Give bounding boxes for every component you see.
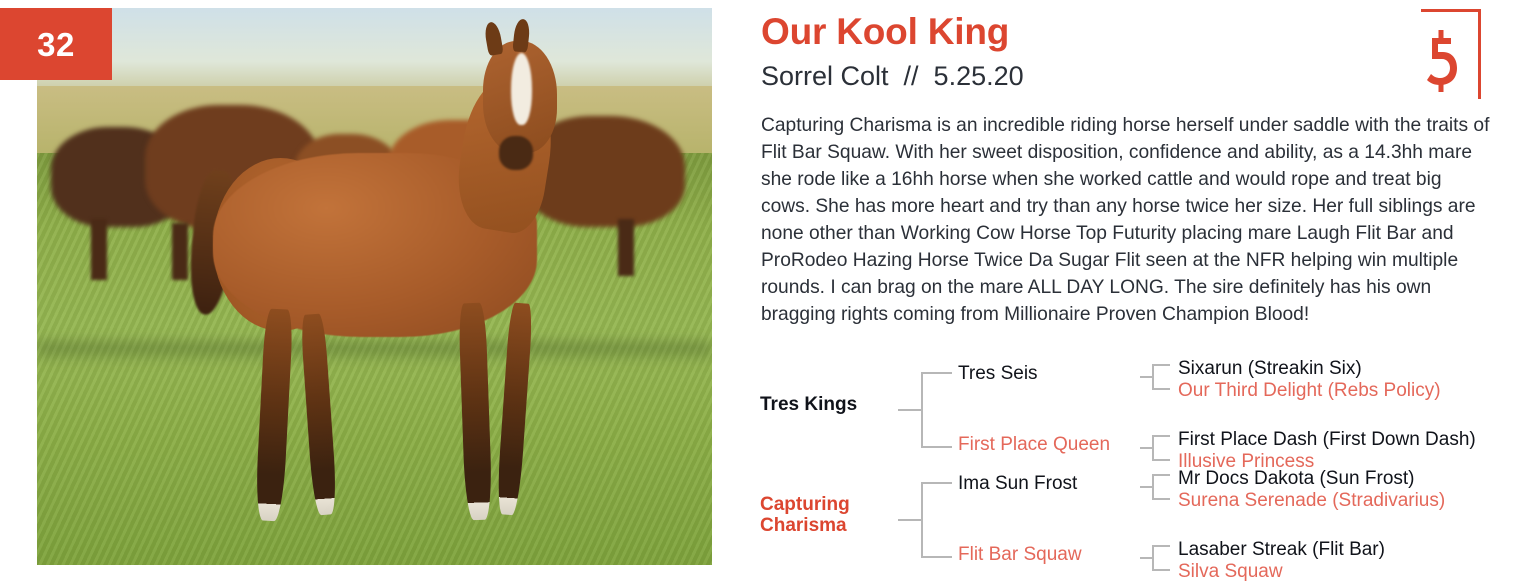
foal-leg (458, 303, 493, 521)
description-paragraph: Capturing Charisma is an incredible ridi… (761, 112, 1491, 328)
pedigree-sire-root: Tres Kings (760, 394, 890, 415)
bracket-arm-bottom (1152, 388, 1170, 390)
bracket-stem (898, 409, 922, 411)
pedigree-sire-sire: Tres Seis (958, 363, 1038, 385)
pedigree-dam-root: Capturing Charisma (760, 494, 890, 536)
pedigree-dam-sire: Ima Sun Frost (958, 473, 1077, 495)
foal-leg (495, 303, 533, 516)
bracket-arm-top (1152, 545, 1170, 547)
listing-details: Our Kool King Sorrel Colt // 5.25.20 Cap… (758, 0, 1523, 584)
horse-photo (37, 8, 712, 565)
foal-leg (300, 314, 338, 516)
bracket-vertical (921, 482, 923, 558)
grandsire-name: Mr Docs Dakota (Sun Frost) (1178, 468, 1445, 490)
pedigree-chart: Tres Kings Tres Seis First Place Queen (758, 358, 1523, 584)
bracket-arm-top (1152, 474, 1170, 476)
granddam-name: Silva Squaw (1178, 561, 1385, 583)
bracket-arm-bottom (1152, 498, 1170, 500)
pedigree-bracket-dam-bottom (1140, 545, 1172, 571)
foal-leg (254, 308, 293, 521)
bracket-vertical (921, 372, 923, 448)
brand-five-dollar-logo-icon (1421, 30, 1461, 92)
bracket-vertical (1152, 435, 1154, 461)
bracket-stem (898, 519, 922, 521)
pedigree-grandparents-sire-top: Sixarun (Streakin Six) Our Third Delight… (1178, 358, 1441, 402)
foal-ear (512, 18, 530, 53)
pedigree-dam-group: Capturing Charisma Ima Sun Frost Flit Ba… (758, 468, 1523, 573)
grandsire-name: Lasaber Streak (Flit Bar) (1178, 539, 1385, 561)
lot-number: 32 (37, 28, 75, 61)
bracket-arm-bottom (921, 556, 952, 558)
pedigree-dam-dam: Flit Bar Squaw (958, 544, 1082, 566)
grandsire-name: First Place Dash (First Down Dash) (1178, 429, 1476, 451)
grandsire-name: Sixarun (Streakin Six) (1178, 358, 1441, 380)
bracket-arm-top (921, 372, 952, 374)
pedigree-bracket-dam-top (1140, 474, 1172, 500)
page-title: Our Kool King (761, 12, 1009, 53)
pedigree-sire-group: Tres Kings Tres Seis First Place Queen (758, 358, 1523, 463)
bracket-arm-top (1152, 364, 1170, 366)
bracket-arm-top (1152, 435, 1170, 437)
pedigree-bracket-sire-bottom (1140, 435, 1172, 461)
subtitle-color-sex-date: Sorrel Colt // 5.25.20 (761, 62, 1024, 92)
foal-muzzle (499, 136, 533, 169)
bracket-arm-top (921, 482, 952, 484)
bracket-arm-bottom (1152, 459, 1170, 461)
foal-ear (483, 21, 503, 56)
granddam-name: Surena Serenade (Stradivarius) (1178, 490, 1445, 512)
pedigree-sire-dam: First Place Queen (958, 434, 1110, 456)
pedigree-bracket-sire-top (1140, 364, 1172, 390)
granddam-name: Our Third Delight (Rebs Policy) (1178, 380, 1441, 402)
catalog-page: 32 Our Kool King Sorrel Colt // 5.25.20 … (0, 0, 1523, 584)
pedigree-grandparents-dam-top: Mr Docs Dakota (Sun Frost) Surena Serena… (1178, 468, 1445, 512)
bracket-vertical (1152, 364, 1154, 390)
pedigree-bracket-sire (898, 372, 953, 448)
pedigree-bracket-dam (898, 482, 953, 558)
bracket-arm-bottom (1152, 569, 1170, 571)
bracket-arm-bottom (921, 446, 952, 448)
foreground-foal (37, 8, 712, 565)
bracket-vertical (1152, 545, 1154, 571)
bracket-vertical (1152, 474, 1154, 500)
foal-face-blaze (511, 53, 532, 125)
pedigree-grandparents-sire-bottom: First Place Dash (First Down Dash) Illus… (1178, 429, 1476, 473)
lot-number-badge: 32 (0, 8, 112, 80)
pedigree-grandparents-dam-bottom: Lasaber Streak (Flit Bar) Silva Squaw (1178, 539, 1385, 583)
